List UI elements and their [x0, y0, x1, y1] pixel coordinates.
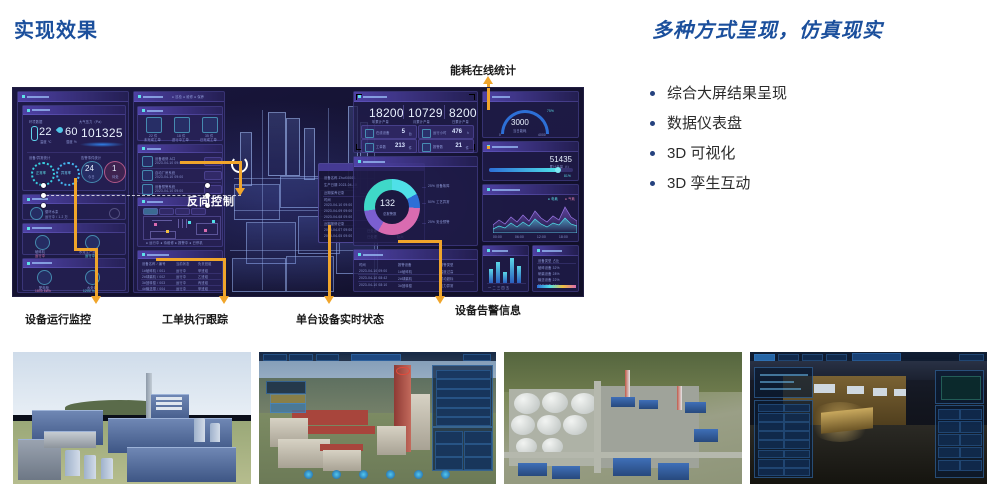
nav-icon[interactable] — [414, 470, 423, 479]
callout-arrow-line — [328, 225, 331, 298]
metric-row — [436, 408, 491, 418]
panel-title-text — [363, 254, 383, 256]
list-cell — [758, 440, 784, 449]
building — [377, 426, 406, 455]
selection-handle[interactable] — [205, 183, 210, 188]
grid-cell — [960, 409, 982, 420]
callout-arrow-line — [156, 258, 226, 261]
grid-cell — [960, 447, 982, 458]
toolbar-button[interactable] — [754, 354, 775, 361]
subpanel-title-text — [32, 198, 48, 200]
nav-icon[interactable] — [304, 470, 313, 479]
grid-cell — [435, 444, 463, 457]
panel-title-text — [542, 250, 562, 252]
list-cell — [784, 459, 810, 468]
tank — [210, 423, 220, 441]
list-cell — [784, 440, 810, 449]
callout-arrow-line — [74, 178, 77, 250]
warehouse-roof — [304, 426, 375, 434]
subpanel-device-table[interactable]: 设备名称 / 编号 当前状态 负责班组 1#破碎机 / 001 运行中 甲班组 … — [137, 250, 223, 291]
subpanel-title-text — [147, 201, 163, 203]
bar — [510, 258, 514, 283]
twin-top-toolbar[interactable] — [750, 352, 988, 361]
list-cell — [784, 422, 810, 431]
panel-heatmap-right[interactable]: 设备类型 占比 破碎设备 32% 研磨设备 28% 输送设备 22% 其他设备 … — [532, 245, 579, 292]
callout-arrow-head — [219, 296, 229, 304]
blue-building — [552, 466, 581, 479]
twin-top-toolbar[interactable] — [259, 352, 497, 361]
road — [594, 381, 601, 473]
side-panel-grid[interactable] — [432, 427, 493, 471]
progress-value: 51435 — [550, 155, 572, 164]
list-cell — [758, 431, 784, 440]
smokestack — [677, 386, 682, 410]
subpanel-title-text — [147, 110, 163, 112]
bar — [489, 269, 493, 283]
alarm-count-value: 24 — [85, 164, 94, 173]
toolbar-button[interactable] — [463, 354, 491, 361]
subpanel-energy-device[interactable]: 配电柜 1800 kWh 水处理 1200 m³ — [22, 258, 126, 291]
kpi-icon-2 — [422, 129, 431, 138]
list-item: 综合大屏结果呈现 — [650, 78, 980, 108]
panel-right-map[interactable] — [935, 370, 985, 404]
header-tick-icon — [27, 198, 30, 201]
callout-arrow-head — [91, 296, 101, 304]
list-cell — [758, 422, 784, 431]
list-item: 3D 可视化 — [650, 138, 980, 168]
twin-title — [852, 353, 902, 361]
grid-cell — [938, 409, 960, 420]
side-panel-metrics[interactable] — [432, 365, 493, 426]
kpi-icon-1 — [365, 129, 374, 138]
selection-handle[interactable] — [41, 183, 46, 188]
nav-icon[interactable] — [386, 470, 395, 479]
order-icon-2[interactable] — [174, 117, 190, 133]
panel-title-text — [492, 146, 518, 148]
header-tick-icon — [22, 95, 25, 98]
grid-cell — [960, 421, 982, 432]
header-tick-icon — [27, 109, 30, 112]
blue-building — [639, 400, 658, 409]
selection-handle[interactable] — [41, 193, 46, 198]
kpi-tile-1[interactable]: 在线设备 5 台 — [361, 125, 417, 139]
panel-title-text — [492, 96, 510, 98]
window — [873, 388, 887, 396]
toolbar-button[interactable] — [959, 354, 985, 361]
floor-tab[interactable] — [159, 208, 174, 215]
area-chart-svg — [493, 203, 577, 233]
panel-header — [354, 92, 477, 102]
subpanel-title-text — [147, 254, 169, 256]
kpi-tile-2[interactable]: 运行小时 476 h — [418, 125, 474, 139]
page-title-right: 多种方式呈现，仿真现实 — [652, 14, 883, 43]
list-cell — [784, 450, 810, 459]
progress-percent: 81% — [564, 174, 571, 178]
progress-fill — [489, 168, 557, 172]
grid-cell — [960, 434, 982, 445]
storage-tank — [511, 415, 535, 435]
kpi-value-4: 21 — [455, 143, 462, 149]
blue-building — [685, 402, 706, 413]
panel-header — [483, 92, 578, 102]
grid-cell — [938, 421, 960, 432]
header-tick-icon — [358, 160, 361, 163]
floor-tab[interactable] — [191, 208, 206, 215]
photo-refinery-aerial[interactable] — [504, 352, 742, 484]
bar — [517, 266, 521, 283]
list-item-label: 3D 可视化 — [667, 146, 735, 161]
blue-building — [611, 397, 635, 408]
hotspot-marker-icon[interactable] — [396, 367, 410, 376]
kpi-icon-3 — [365, 143, 374, 152]
panel-title-text — [27, 96, 49, 98]
panel-left-list[interactable] — [754, 400, 813, 479]
list-item-icon — [142, 184, 153, 195]
photo-plant-3d-render[interactable] — [13, 352, 251, 484]
tank — [65, 450, 79, 476]
subpanel-recent-orders[interactable]: 设备维修 A口 2023-04-10 09:00 自动厂房系统 2023-04-… — [137, 144, 223, 194]
callout-arrow-line — [239, 161, 242, 190]
grid-cell — [938, 447, 960, 458]
device-icon — [30, 207, 43, 220]
list-cell — [758, 450, 784, 459]
page-title-left: 实现效果 — [14, 14, 98, 43]
device-icon — [37, 270, 52, 285]
callout-reverse-control: 反向控制 — [187, 193, 235, 209]
order-icon-3[interactable] — [202, 117, 218, 133]
dashboard-screenshot[interactable]: 设备名称 ZhuXi0001 生产日期 2023-04-10 近期保养记录 更多… — [13, 88, 583, 296]
floor-tab[interactable] — [143, 208, 158, 215]
toolbar-button[interactable] — [826, 354, 847, 361]
feature-bullet-list: 综合大屏结果呈现 数据仪表盘 3D 可视化 3D 孪生互动 — [650, 78, 980, 198]
header-tick-icon — [487, 188, 490, 191]
list-item-label: 综合大屏结果呈现 — [667, 86, 787, 101]
kpi-tile-3[interactable]: 工单数 213 件 — [361, 139, 417, 153]
mini-map[interactable] — [941, 376, 981, 400]
panel-top-left[interactable] — [754, 367, 813, 398]
callout-device-realtime-status: 单台设备实时状态 — [296, 311, 384, 327]
callout-arrow-head — [324, 296, 334, 304]
stat-value-3: 8200 — [449, 106, 477, 120]
metric-row — [436, 379, 491, 389]
selection-handle[interactable] — [41, 203, 46, 208]
progress-knob[interactable] — [555, 167, 561, 173]
photo-cement-plant-digital-twin[interactable] — [259, 352, 497, 484]
callout-arrow-line — [398, 240, 442, 243]
map-label-chip[interactable] — [270, 403, 305, 413]
nav-icon[interactable] — [441, 470, 450, 479]
device-icon — [35, 235, 50, 250]
map-label-chip[interactable] — [266, 381, 306, 394]
list-cell — [758, 413, 784, 422]
callout-arrow-line-inner — [487, 88, 490, 110]
roof — [44, 431, 96, 448]
metric-row — [436, 417, 491, 426]
list-cell — [784, 468, 810, 476]
humidity-value: 60 — [65, 126, 78, 138]
header-tick-icon — [27, 227, 30, 230]
callout-device-alarm-info: 设备告警信息 — [455, 302, 521, 318]
grid-cell — [435, 431, 463, 444]
header-tick-icon — [142, 253, 145, 256]
floor-plan-map[interactable] — [143, 216, 221, 240]
panel-progress[interactable]: 51435 累计产量（t） 81% — [482, 141, 579, 181]
header-tick-icon — [537, 249, 540, 252]
header-tick-icon — [27, 262, 30, 265]
order-icon-1[interactable] — [146, 117, 162, 133]
panel-title-text — [492, 189, 520, 191]
window-band — [156, 397, 182, 400]
panel-title-text — [363, 161, 385, 163]
toolbar-button[interactable] — [289, 354, 312, 361]
stat-value-2: 10729 — [408, 106, 443, 120]
nav-icon[interactable] — [332, 470, 341, 479]
list-cell — [758, 404, 784, 413]
twin-title — [351, 354, 401, 362]
grid-cell — [938, 434, 960, 445]
panel-header — [483, 142, 578, 152]
tank — [194, 418, 206, 442]
panel-header — [354, 250, 477, 260]
bullet-dot-icon — [650, 91, 655, 96]
panel-energy-trend[interactable]: ● 电耗 ● 气耗 — [482, 184, 579, 242]
thermometer-icon — [31, 126, 38, 141]
temperature-value: 22 — [39, 126, 52, 138]
grid-cell — [938, 460, 960, 471]
subpanel-title-text — [32, 227, 52, 229]
panel-title-text — [363, 96, 387, 98]
panel-bar-chart-left[interactable]: 一 二 三 四 五 — [482, 245, 529, 292]
panel-operation-stats[interactable]: 18200 年累计产量 10729 月累计产量 8200 日累计产量 在线设备 … — [353, 91, 478, 153]
list-item: 3D 孪生互动 — [650, 168, 980, 198]
panel-title-text — [143, 96, 163, 98]
callout-arrow-head — [235, 188, 245, 196]
photo-strip — [13, 352, 987, 484]
subpanel-title-text — [32, 109, 50, 111]
list-item-label: 3D 孪生互动 — [667, 176, 750, 191]
subpanel-order-types[interactable]: 22 件 未完成工单 18 件 进行中工单 35 件 已完成工单 — [137, 106, 223, 141]
list-item-label: 数据仪表盘 — [667, 116, 742, 131]
list-item-icon — [142, 156, 153, 167]
panel-energy-gauge[interactable]: 3000 当日能耗 75% 0 4000 — [482, 91, 579, 138]
kpi-icon-4 — [422, 143, 431, 152]
list-cell — [784, 431, 810, 440]
list-cell — [784, 404, 810, 413]
list-cell — [784, 413, 810, 422]
corner-decoration — [469, 94, 475, 100]
building — [127, 447, 236, 482]
pressure-value: 101325 — [81, 126, 123, 140]
floor-tab[interactable] — [175, 208, 190, 215]
bullet-dot-icon — [650, 181, 655, 186]
donut-center-value: 132 — [380, 198, 395, 208]
kpi-tile-4[interactable]: 报警数 21 件 — [418, 139, 474, 153]
subpanel-header — [23, 259, 125, 268]
subpanel-header — [23, 106, 125, 115]
bullet-dot-icon — [650, 151, 655, 156]
alarm-count-value-2: 1 — [112, 164, 116, 173]
storage-tank — [514, 393, 540, 414]
window-band — [156, 402, 182, 405]
panel-header — [354, 157, 477, 167]
window — [894, 389, 906, 396]
header-tick-icon — [487, 249, 490, 252]
pressure-glow — [80, 142, 124, 147]
panel-header — [533, 246, 578, 256]
header-tick-icon — [142, 200, 145, 203]
area-chart — [493, 203, 577, 233]
list-cell — [758, 459, 784, 468]
more-icon[interactable] — [109, 208, 120, 219]
tank — [101, 458, 113, 479]
progress-track[interactable] — [489, 168, 573, 172]
tank — [84, 455, 96, 479]
stat-value-1: 18200 — [369, 106, 404, 120]
callout-arrow-line — [180, 161, 242, 164]
grid-cell — [464, 444, 492, 457]
toolbar-button[interactable] — [263, 354, 286, 361]
grid-cell — [464, 457, 492, 470]
order-status-badge[interactable] — [204, 171, 222, 180]
kpi-value-3: 213 — [395, 143, 405, 149]
toolbar-button[interactable] — [778, 354, 799, 361]
window — [814, 384, 835, 393]
list-item: 数据仪表盘 — [650, 108, 980, 138]
list-item-icon — [142, 170, 153, 181]
panel-device-overview[interactable]: 环境数据 大气压力（Pa） 22 温度 ℃ 60 湿度 % 101325 设备/… — [17, 91, 129, 293]
grid-cell — [960, 460, 982, 471]
toolbar-button[interactable] — [802, 354, 823, 361]
bullet-dot-icon — [650, 121, 655, 126]
callout-arrow-head — [435, 296, 445, 304]
panel-alarm-list[interactable]: 时间 报警设备 报警类型 2023-04-10 09:00 1#破碎机 温度过高… — [353, 249, 478, 292]
window-band — [156, 407, 182, 410]
road — [504, 452, 742, 457]
header-tick-icon — [142, 109, 145, 112]
kpi-value-2: 476 — [452, 129, 462, 135]
panel-order-tracking[interactable]: ● 巡检 ● 维修 ● 保养 22 件 未完成工单 18 件 进行中工单 35 … — [133, 91, 225, 293]
gauge-value: 3000 — [511, 118, 529, 127]
blue-building — [518, 463, 547, 476]
corner-decoration — [356, 94, 362, 100]
callout-arrow-dot — [487, 146, 490, 149]
photo-indoor-factory-twin[interactable] — [750, 352, 988, 484]
building — [411, 394, 430, 449]
subpanel-header — [138, 145, 222, 153]
window — [847, 386, 864, 394]
storage-tank — [571, 393, 597, 414]
subpanel-header — [138, 107, 222, 115]
callout-work-order-tracking: 工单执行跟踪 — [162, 311, 228, 327]
header-tick-icon — [142, 147, 145, 150]
callout-device-monitor: 设备运行监控 — [25, 311, 91, 327]
panel-header — [483, 246, 528, 256]
grid-cell — [464, 431, 492, 444]
blue-building — [658, 463, 689, 480]
gauge-percent: 75% — [547, 109, 554, 113]
nav-icon[interactable] — [359, 470, 368, 479]
toolbar-button[interactable] — [316, 354, 339, 361]
subpanel-title-text — [147, 148, 161, 150]
blue-building — [613, 458, 651, 476]
panel-title-text — [492, 250, 508, 252]
panel-header — [483, 185, 578, 195]
metric-row — [436, 389, 491, 399]
storage-tank — [542, 392, 568, 413]
header-tick-icon — [358, 253, 361, 256]
panel-header — [18, 92, 128, 102]
callout-arrow-head — [483, 76, 493, 84]
blue-building — [694, 429, 718, 442]
panel-alarm-distribution[interactable]: 132 总报警数 25% 设备故障 50% 工艺异常 25% 安全预警 — [353, 156, 478, 246]
bar — [496, 262, 500, 283]
callout-arrow-line — [439, 240, 442, 298]
list-cell — [758, 468, 784, 476]
metric-row — [436, 398, 491, 408]
panel-right-grid[interactable] — [935, 405, 985, 478]
header-tick-icon — [138, 95, 141, 98]
bar — [503, 272, 507, 283]
slide-root: 实现效果 多种方式呈现，仿真现实 综合大屏结果呈现 数据仪表盘 3D 可视化 3… — [0, 0, 1000, 498]
metric-row — [436, 370, 491, 380]
callout-arrow-line — [223, 258, 226, 298]
droplet-icon — [56, 126, 64, 134]
heat-legend-gradient — [537, 285, 576, 288]
callout-arrow-line — [95, 248, 98, 298]
kpi-value-1: 5 — [402, 129, 405, 135]
subpanel-title-text — [32, 262, 52, 264]
bottom-nav-icons[interactable] — [301, 468, 453, 481]
